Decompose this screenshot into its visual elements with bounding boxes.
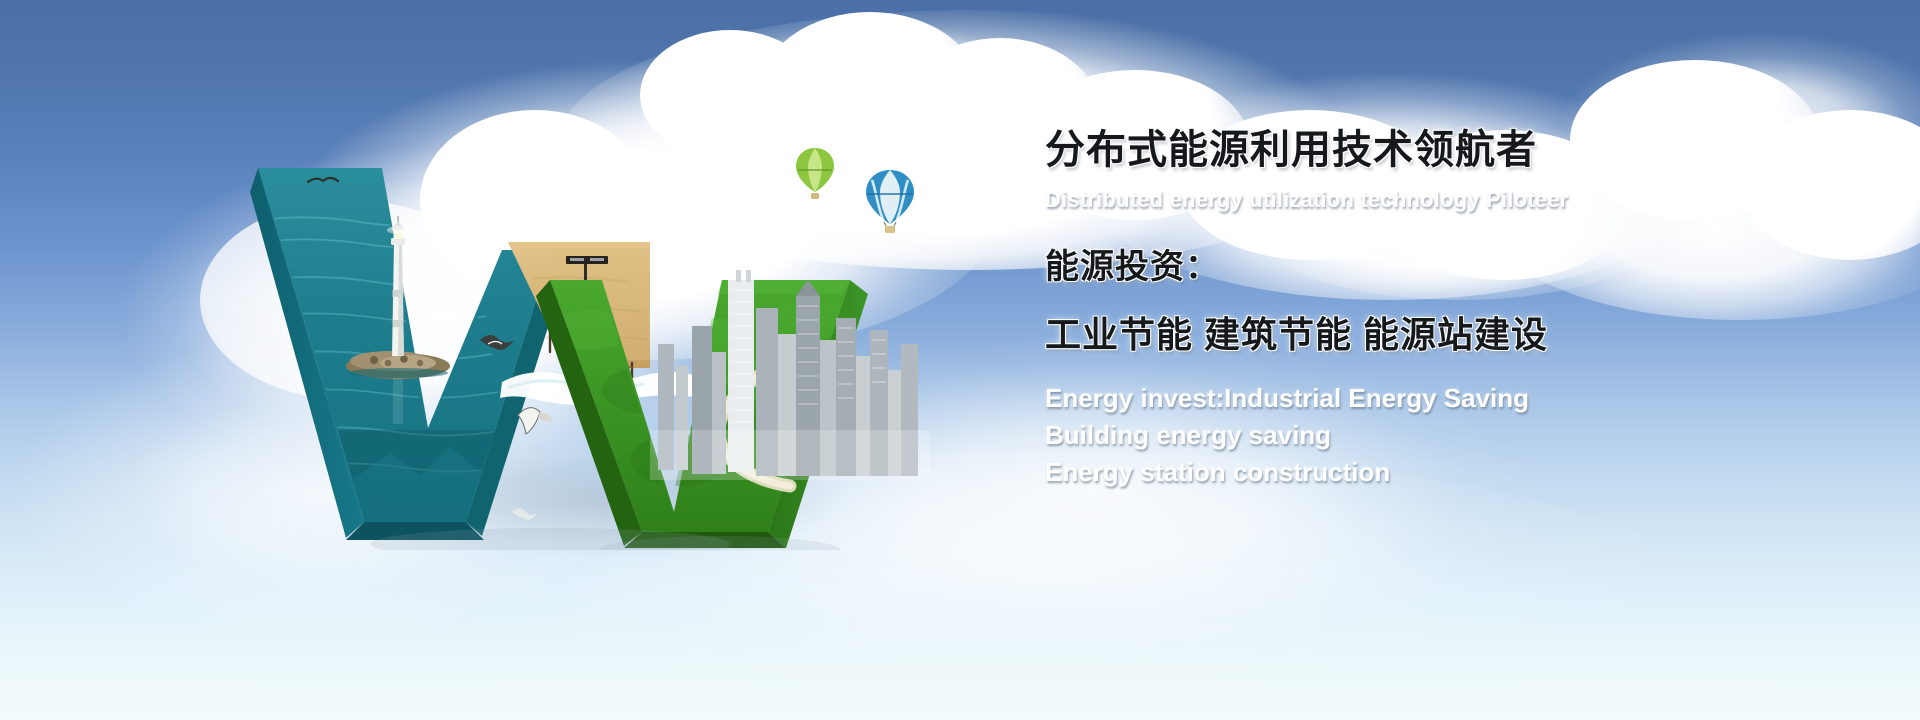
w-logo-svg bbox=[250, 130, 950, 550]
hero-text-block: 分布式能源利用技术领航者 Distributed energy utilizat… bbox=[1045, 128, 1845, 491]
seagull-icon bbox=[512, 508, 538, 519]
service-en-1: Energy invest:Industrial Energy Saving bbox=[1045, 380, 1845, 417]
headline-english: Distributed energy utilization technolog… bbox=[1045, 187, 1845, 213]
balloon-green-icon bbox=[796, 148, 834, 199]
services-list-chinese: 工业节能 建筑节能 能源站建设 bbox=[1045, 306, 1845, 358]
headline-chinese: 分布式能源利用技术领航者 bbox=[1045, 128, 1845, 173]
service-en-2: Building energy saving bbox=[1045, 417, 1845, 454]
w-landscape-logo bbox=[250, 130, 950, 550]
service-en-3: Energy station construction bbox=[1045, 454, 1845, 491]
services-list-english: Energy invest:Industrial Energy Saving B… bbox=[1045, 380, 1845, 491]
balloon-blue-icon bbox=[866, 170, 914, 233]
invest-label-chinese: 能源投资： bbox=[1045, 239, 1845, 288]
hero-banner: 分布式能源利用技术领航者 Distributed energy utilizat… bbox=[0, 0, 1920, 720]
